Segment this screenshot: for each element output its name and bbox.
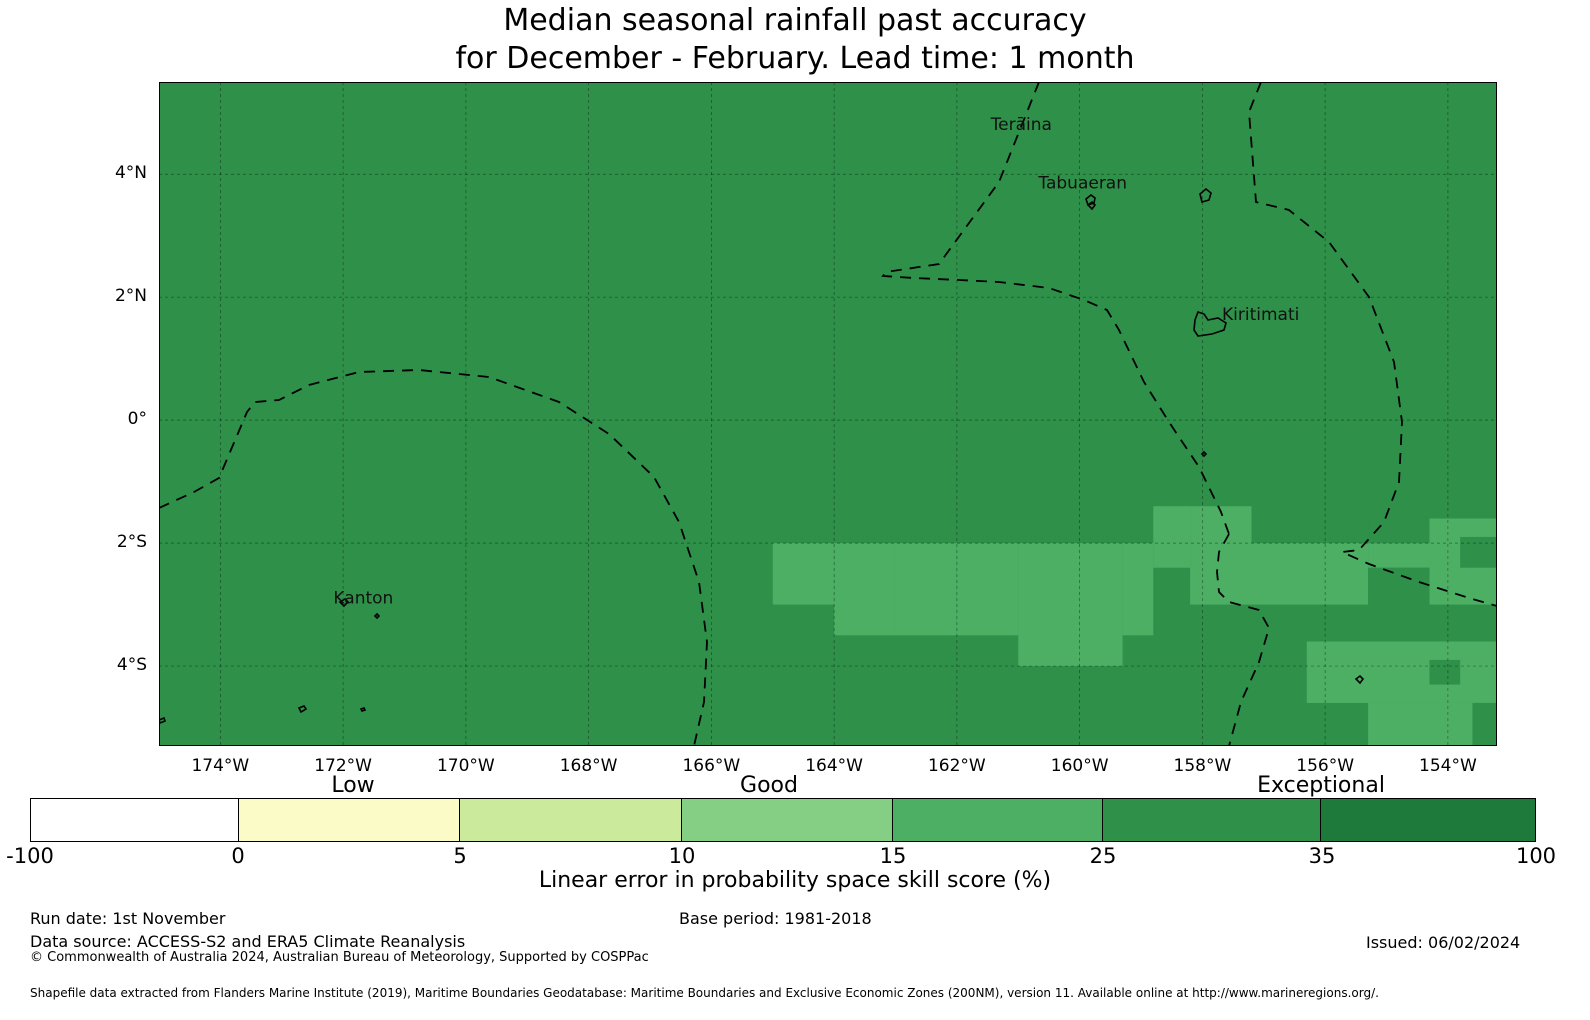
colorbar-segment[interactable]: [1321, 799, 1535, 841]
quality-label-low: Low: [253, 773, 453, 798]
footer-shapefile: Shapefile data extracted from Flanders M…: [30, 986, 1379, 1000]
heatmap-cell: [834, 543, 895, 635]
map-panel[interactable]: TerāinaTabuaeranKiritimatiKanton: [159, 82, 1497, 746]
x-axis-tick: 162°W: [897, 756, 1017, 776]
x-axis-tick: 160°W: [1020, 756, 1140, 776]
colorbar-segment[interactable]: [893, 799, 1103, 841]
heatmap-cell: [1472, 703, 1497, 746]
colorbar-segment[interactable]: [1103, 799, 1322, 841]
colorbar-tick: 15: [833, 844, 953, 868]
heatmap-cell: [1251, 543, 1368, 604]
colorbar-tick: 0: [178, 844, 298, 868]
colorbar-tick: 5: [400, 844, 520, 868]
title-line-1: Median seasonal rainfall past accuracy: [0, 2, 1590, 40]
colorbar-segment[interactable]: [682, 799, 893, 841]
colorbar-tick: 25: [1043, 844, 1163, 868]
map-place-label: Tabuaeran: [1037, 173, 1127, 193]
colorbar-segment[interactable]: [239, 799, 461, 841]
heatmap-cell: [1429, 660, 1460, 685]
colorbar[interactable]: -1000510152535100: [30, 798, 1536, 842]
colorbar-title: Linear error in probability space skill …: [0, 868, 1590, 893]
heatmap-cell: [1307, 641, 1497, 702]
heatmap-cell: [1123, 543, 1154, 635]
heatmap-cell: [896, 543, 957, 635]
heatmap-cell: [773, 543, 834, 604]
colorbar-tick: 35: [1262, 844, 1382, 868]
heatmap-cell: [1368, 543, 1429, 568]
quality-label-exceptional: Exceptional: [1221, 773, 1421, 798]
heatmap-cell: [1018, 543, 1079, 666]
colorbar-gradient[interactable]: [30, 798, 1536, 842]
y-axis-tick: 2°N: [77, 286, 147, 306]
heatmap-cell: [1080, 543, 1123, 666]
colorbar-segment[interactable]: [31, 799, 239, 841]
map-place-label: Kanton: [333, 588, 393, 608]
heatmap-cell: [1368, 568, 1429, 605]
map-place-label: Kiritimati: [1222, 305, 1299, 325]
heatmap-cell: [1368, 703, 1429, 746]
footer-copyright: © Commonwealth of Australia 2024, Austra…: [30, 950, 649, 965]
map-place-label: Terāina: [990, 115, 1052, 135]
y-axis-tick: 0°: [77, 409, 147, 429]
colorbar-tick: 10: [622, 844, 742, 868]
colorbar-tick: -100: [0, 844, 90, 868]
title-line-2: for December - February. Lead time: 1 mo…: [0, 40, 1590, 78]
footer-data-source: Data source: ACCESS-S2 and ERA5 Climate …: [30, 931, 465, 952]
colorbar-tick: 100: [1476, 844, 1590, 868]
y-axis-tick: 4°N: [77, 163, 147, 183]
heatmap-cell: [1460, 537, 1497, 568]
heatmap-cell: [1153, 506, 1190, 567]
map-canvas[interactable]: TerāinaTabuaeranKiritimatiKanton: [159, 82, 1497, 746]
footer-run-date: Run date: 1st November: [30, 908, 225, 929]
footer-issued: Issued: 06/02/2024: [1366, 932, 1520, 953]
colorbar-segment[interactable]: [460, 799, 682, 841]
y-axis-tick: 2°S: [77, 532, 147, 552]
heatmap-cell: [1190, 506, 1251, 604]
map-background: [159, 82, 1497, 746]
footer-base-period: Base period: 1981-2018: [679, 908, 872, 929]
x-axis-tick: 168°W: [529, 756, 649, 776]
quality-label-good: Good: [669, 773, 869, 798]
page-title: Median seasonal rainfall past accuracy f…: [0, 0, 1590, 78]
y-axis-tick: 4°S: [77, 655, 147, 675]
heatmap-cell: [957, 543, 1018, 635]
